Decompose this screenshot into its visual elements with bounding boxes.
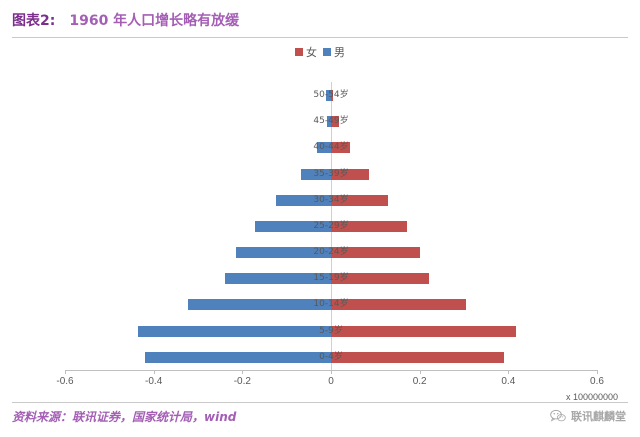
bar-female[interactable] [331, 116, 339, 127]
bar-male[interactable] [188, 299, 331, 310]
bar-female[interactable] [331, 273, 429, 284]
bar-female[interactable] [331, 195, 388, 206]
legend-swatch-icon [323, 48, 331, 56]
bar-female[interactable] [331, 299, 466, 310]
legend-swatch-icon [295, 48, 303, 56]
chart-row: 40-44岁 [65, 134, 597, 160]
chart-legend: 女男 [0, 44, 640, 60]
axis-tick [420, 370, 421, 374]
chart-row: 15-19岁 [65, 265, 597, 291]
wechat-icon [550, 409, 566, 423]
bar-female[interactable] [331, 169, 369, 180]
axis-multiplier-label: x 100000000 [566, 392, 618, 402]
bar-male[interactable] [301, 169, 331, 180]
chart-area: 50-54岁45-49岁40-44岁35-39岁30-34岁25-29岁20-2… [0, 70, 640, 390]
axis-tick [242, 370, 243, 374]
axis-tick-label: 0.6 [590, 376, 604, 387]
watermark-label: 联讯麒麟堂 [571, 408, 626, 424]
chart-row: 50-54岁 [65, 82, 597, 108]
bar-male[interactable] [145, 352, 331, 363]
source-note: 资料来源：联讯证券，国家统计局，wind [12, 408, 236, 425]
bar-female[interactable] [331, 352, 504, 363]
bar-female[interactable] [331, 221, 407, 232]
axis-tick-label: 0 [328, 376, 334, 387]
axis-tick [65, 370, 66, 374]
axis-tick [154, 370, 155, 374]
chart-page: 图表2:1960 年人口增长略有放缓 女男 50-54岁45-49岁40-44岁… [0, 0, 640, 437]
axis-tick [597, 370, 598, 374]
bar-female[interactable] [331, 247, 420, 258]
plot-area: 50-54岁45-49岁40-44岁35-39岁30-34岁25-29岁20-2… [65, 82, 597, 370]
bar-male[interactable] [236, 247, 331, 258]
bar-male[interactable] [276, 195, 331, 206]
axis-tick [331, 370, 332, 374]
chart-row: 30-34岁 [65, 187, 597, 213]
chart-row: 0-4岁 [65, 344, 597, 370]
header-divider [12, 37, 628, 38]
legend-label: 男 [334, 44, 345, 60]
legend-item-male[interactable]: 男 [323, 44, 345, 60]
axis-tick [508, 370, 509, 374]
bar-female[interactable] [331, 326, 516, 337]
chart-row: 5-9岁 [65, 318, 597, 344]
page-title: 1960 年人口增长略有放缓 [69, 13, 239, 29]
chart-row: 20-24岁 [65, 239, 597, 265]
chart-row: 35-39岁 [65, 161, 597, 187]
chart-row: 25-29岁 [65, 213, 597, 239]
watermark: 联讯麒麟堂 [550, 408, 626, 424]
bar-male[interactable] [138, 326, 331, 337]
chart-header: 图表2:1960 年人口增长略有放缓 [12, 10, 628, 38]
chart-row: 10-14岁 [65, 291, 597, 317]
figure-tag: 图表2: [12, 13, 55, 29]
bar-male[interactable] [255, 221, 331, 232]
bar-male[interactable] [317, 142, 331, 153]
chart-row: 45-49岁 [65, 108, 597, 134]
axis-tick-label: -0.4 [145, 376, 162, 387]
axis-tick-label: -0.6 [56, 376, 73, 387]
legend-label: 女 [306, 44, 317, 60]
footer-divider [12, 402, 628, 403]
axis-tick-label: 0.4 [501, 376, 515, 387]
bar-female[interactable] [331, 142, 350, 153]
axis-tick-label: -0.2 [234, 376, 251, 387]
axis-tick-label: 0.2 [413, 376, 427, 387]
bar-female[interactable] [331, 90, 333, 101]
legend-item-female[interactable]: 女 [295, 44, 317, 60]
bar-male[interactable] [225, 273, 331, 284]
